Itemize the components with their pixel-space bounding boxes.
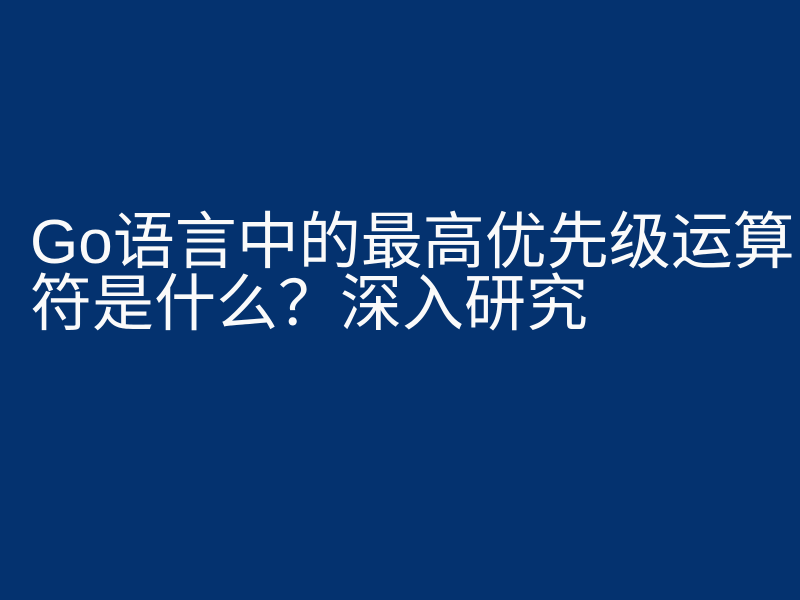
title-line-2: 符是什么？深入研究 [30,274,800,336]
title-line-1: Go语言中的最高优先级运算 [30,212,800,274]
title-card: Go语言中的最高优先级运算 符是什么？深入研究 [0,0,800,600]
page-title: Go语言中的最高优先级运算 符是什么？深入研究 [30,212,800,336]
